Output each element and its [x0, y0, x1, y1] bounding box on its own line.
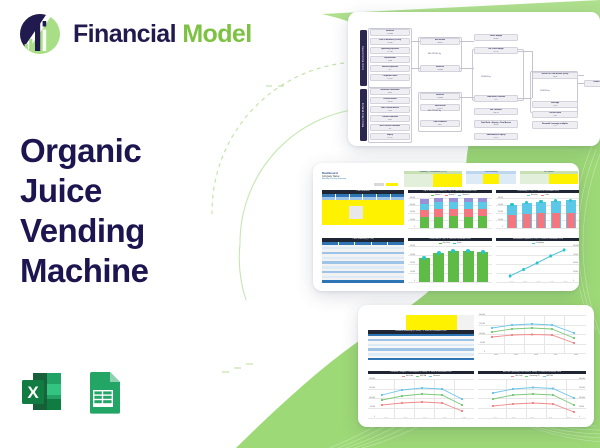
page-title-line-1: Organic [20, 131, 149, 171]
forecast-lines-bl [368, 379, 474, 418]
chart-top-revenue-streams[interactable]: Top 5 Revenue Streams (5 Yrs) - 5 Years … [408, 190, 492, 234]
chart-title: Profitability (5 Yrs) - 5 Years to Decem… [496, 190, 579, 193]
node-revenue-2: Revenue129,800 [420, 65, 460, 72]
page-title-line-3: Vending [20, 211, 149, 251]
page-title-line-2: Juice [20, 171, 149, 211]
chart-legend: Stream 1 Stream 2 Stream 3 [408, 194, 492, 197]
chart-investment-payback[interactable]: Investment Payback (5 Yrs) - 5 Years to … [496, 238, 579, 290]
dashboard-header: Dashboard Company Name: Monthly & Yearly… [322, 171, 368, 183]
financial-model-logo-icon [18, 12, 62, 56]
x-axis-ticks: 2024 2025 2026 2027 2028 [408, 228, 492, 231]
legend-label-markers: Trend [457, 242, 461, 244]
chart-legend: Net Profit EBITDA Revenue [368, 375, 474, 378]
forecast-summary-table[interactable]: Financial Summary (5 Years) - 5 Years to… [368, 315, 474, 367]
chart-plot: 40,00030,00020,00010,0000 [408, 246, 492, 282]
kpi-metrics-panel[interactable]: KPI Metrics [520, 171, 578, 187]
chart-plot: 200,000150,000100,00050,0000 [478, 379, 586, 418]
legend-label: Stream 2 [449, 194, 456, 196]
chart-legend: Net Cash Operating CF EBITDA [478, 375, 586, 378]
chart-plot: 100,00075,00050,00025,0000 [496, 246, 579, 282]
brand-word-model: Model [182, 20, 251, 48]
node-gross-margin: Gross Margin64.6% [474, 34, 518, 41]
operator-label-1: MULTIPLIED by [428, 53, 441, 55]
node-total-liabilities: Total Liabilities4,612 [420, 120, 460, 127]
forecast-lines-br [478, 379, 586, 418]
operator-label-4: DIVIDED by [540, 90, 550, 92]
legend-label: Stream 3 [462, 194, 469, 196]
chart-ebitda-operating-cash-flow[interactable]: EBITDA / Operating Cash Flow (5 Years) -… [478, 371, 586, 425]
legend-label: Net Cash [443, 242, 450, 244]
band-income-statement: Income Statement (P&L) [360, 30, 367, 86]
x-axis-ticks: 2024 2025 2026 2027 2028 [408, 282, 492, 285]
chart-plot: 200,000150,000100,00050,0000 [368, 379, 474, 418]
x-axis-ticks: 2024 2025 2026 2027 2028 [478, 353, 586, 356]
chart-legend: Revenue Costs [496, 194, 579, 197]
brand-wordmark: Financial Model [73, 20, 252, 49]
node-revenue: Revenue129,800 [370, 29, 410, 36]
y-axis-ticks: 40,00030,00020,00010,0000 [408, 246, 415, 282]
node-total-debt-equity: Total Debt + Equity = Total Assets26,629 [474, 120, 518, 128]
y-axis-ticks: 200,000150,000100,00050,0000 [368, 379, 375, 418]
solid-arc-2 [239, 244, 246, 300]
chart-title: Cash Flow (5 Yrs) - 5 Years to December … [408, 238, 492, 241]
brand-word-financial: Financial [73, 20, 176, 48]
chart-cash-flow[interactable]: Cash Flow (5 Yrs) - 5 Years to December … [408, 238, 492, 290]
x-axis-ticks: 2024 2025 2026 2027 2028 [496, 282, 579, 285]
node-accounts-receivable: Accounts Receivable8,981 [370, 88, 410, 95]
node-current-liabilities: Current Liabilities4,091 [370, 115, 410, 122]
chart-plot: 80,00060,00040,00020,0000 [408, 198, 492, 228]
node-depreciation: Depreciation5,380 [370, 56, 410, 63]
node-return-on-total-assets: Return on Total Assets (ROA)145% [532, 72, 578, 79]
node-equity: Equity22,172 [370, 133, 410, 140]
header-chip-highlight [386, 183, 398, 186]
chart-title: Revenue / Margins / Consumption (5 Years… [368, 371, 474, 374]
node-net-income: Net Income38,631 [420, 38, 460, 45]
node-corporate-taxes: Corporate Taxes10,229 [370, 74, 410, 81]
chart-financial-summary-lines[interactable]: Revenue / Margins / Consumption (5 Years… [368, 371, 474, 425]
microsoft-excel-icon[interactable]: X [19, 369, 65, 415]
band-balance-sheet: Balance Sheet (B-Sheet) [360, 89, 367, 141]
chart-legend: Net Cash Trend [408, 242, 492, 245]
dashboard-sheet: Dashboard Company Name: Monthly & Yearly… [318, 168, 574, 286]
cash-summary-panel[interactable]: Cash Summary [466, 171, 516, 187]
operator-label-2: DIVIDED by [481, 76, 491, 78]
x-axis-ticks: 2024 2025 2026 2027 2028 [496, 228, 579, 231]
y-axis-ticks: 200,000150,000100,00050,0000 [579, 379, 586, 418]
header-chip [374, 183, 384, 186]
operator-label-3: MULTIPLIED by [428, 110, 441, 112]
payback-line [505, 246, 576, 282]
chart-profitability[interactable]: Profitability (5 Yrs) - 5 Years to Decem… [496, 190, 579, 234]
node-non-current-liabilities: Non-Current Liabilities521 [370, 124, 410, 131]
legend-label: Operating CF [529, 375, 539, 377]
file-format-icons: X [19, 369, 126, 415]
y-axis-ticks: 80,00060,00040,00020,0000 [408, 198, 415, 228]
node-leverage: Leverage1.209 [532, 101, 578, 108]
summary-consolidated-panel[interactable]: Summary - Consolidated (5 Yrs) [404, 171, 462, 187]
y-axis-ticks: 200,000150,000100,00050,0000 [478, 315, 485, 353]
legend-label: EBITDA [420, 375, 426, 377]
page-title-line-4: Machine [20, 251, 149, 291]
y-axis-ticks: 60,00045,00030,00015,0000 [496, 198, 503, 228]
node-current-ratio: Current Ratio5.89 [532, 111, 578, 118]
dashboard-note: Monthly & Yearly Summary [322, 178, 368, 180]
node-operating-expenses: Operating Expenses22,738 [370, 47, 410, 54]
node-total-asset-turnover: Total Asset Turnover4.87 [474, 95, 518, 102]
slide-canvas: Financial Model Organic Juice Vending Ma… [0, 0, 600, 448]
card-financial-forecast[interactable]: Financial Summary (5 Years) - 5 Years to… [358, 305, 594, 427]
chart-legend: Cumulative [496, 242, 579, 245]
dash-accents [222, 364, 253, 372]
group-margin [472, 49, 524, 101]
card-dashboard[interactable]: Dashboard Company Name: Monthly & Yearly… [313, 163, 579, 291]
page-title: Organic Juice Vending Machine [20, 131, 149, 291]
node-interest-expenses: Interest Expenses527 [370, 65, 410, 72]
legend-label: Net Cash [515, 375, 522, 377]
node-return-on-equity: Return on Equity (ROE)175% [584, 80, 600, 87]
node-shareholders-equity: Shareholder's Equity22,017 [474, 133, 518, 140]
chart-title: EBITDA / Operating Cash Flow (5 Years) -… [478, 371, 586, 374]
chart-plot: 60,00045,00030,00015,0000 [496, 198, 579, 228]
card-financial-ratio-tree[interactable]: Income Statement (P&L) Balance Sheet (B-… [348, 12, 600, 146]
node-financial-leverage-multiplier: Financial Leverage multiplier1.21 [532, 121, 578, 129]
chart-title: Investment Payback (5 Yrs) - 5 Years to … [496, 238, 579, 241]
chart-plot: 200,000150,000100,00050,0000 [478, 315, 586, 353]
node-ar-turnover: A/R Turnover144.54 [474, 108, 518, 115]
forecast-lines-top [478, 315, 586, 353]
y-axis-ticks: 100,00075,00050,00025,0000 [573, 246, 579, 282]
forecast-sheet: Financial Summary (5 Years) - 5 Years to… [364, 311, 588, 421]
legend-label: Cumulative [536, 242, 544, 244]
x-axis-ticks: 2024 2025 2026 2027 2028 [478, 418, 586, 421]
legend-label: Revenue [433, 375, 440, 377]
excel-letter: X [27, 383, 39, 402]
cash-summary-table[interactable]: Cash Summary (5 Yrs) [322, 238, 404, 290]
chart-revenue-margins-consumption[interactable]: 200,000150,000100,00050,0000 2024 2025 2… [478, 315, 586, 367]
chart-title: Top 5 Revenue Streams (5 Yrs) - 5 Years … [408, 190, 492, 193]
google-sheets-icon[interactable] [80, 369, 126, 415]
brand-lockup: Financial Model [18, 12, 252, 56]
cost-structure-table[interactable]: Cost Structure [322, 190, 404, 234]
legend-label: Net Profit [406, 375, 413, 377]
legend-label: EBITDA [547, 375, 553, 377]
legend-label: Revenue [531, 194, 538, 196]
node-revenue-3: Revenue129,800 [420, 93, 460, 100]
node-non-current-assets: Non-Current Assets2,531 [370, 106, 410, 113]
x-axis-ticks: 2024 2025 2026 2027 2028 [368, 418, 474, 421]
legend-label: Stream 1 [435, 194, 442, 196]
node-cogs: Cost of Revenue (COGS)45,980 [370, 38, 410, 45]
ratio-tree-diagram: Income Statement (P&L) Balance Sheet (B-… [354, 19, 594, 139]
node-net-profit-margin: Net Profit Margin29.7% [474, 47, 518, 54]
legend-label: Costs [545, 194, 549, 196]
node-current-assets: Current Assets24,098 [370, 97, 410, 104]
